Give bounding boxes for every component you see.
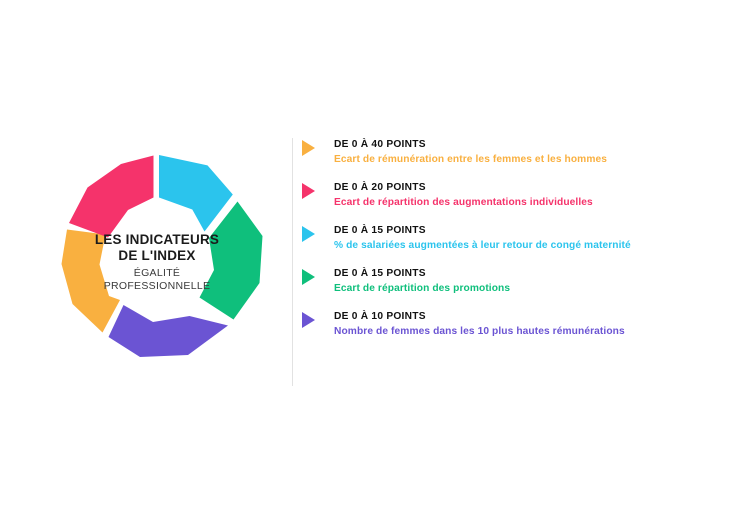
indicator-description: Ecart de répartition des promotions — [334, 281, 720, 297]
list-item: DE 0 À 15 POINTS Ecart de répartition de… — [300, 267, 720, 297]
triangle-right-icon — [302, 312, 315, 328]
indicator-points-label: DE 0 À 10 POINTS — [334, 310, 720, 324]
indicator-list: DE 0 À 40 POINTS Ecart de rémunération e… — [300, 138, 720, 340]
list-item: DE 0 À 15 POINTS % de salariées augmenté… — [300, 224, 720, 254]
purple-segment — [109, 305, 229, 357]
triangle-right-icon — [302, 269, 315, 285]
triangle-right-icon — [302, 140, 315, 156]
indicator-points-label: DE 0 À 15 POINTS — [334, 224, 720, 238]
indicator-points-label: DE 0 À 20 POINTS — [334, 181, 720, 195]
indicator-description: Nombre de femmes dans les 10 plus hautes… — [334, 324, 720, 340]
indicator-points-label: DE 0 À 40 POINTS — [334, 138, 720, 152]
pink-segment — [69, 156, 154, 238]
donut-segments — [62, 155, 263, 357]
indicator-description: Ecart de rémunération entre les femmes e… — [334, 152, 720, 168]
cyan-segment — [159, 155, 233, 232]
triangle-right-icon — [302, 183, 315, 199]
list-item: DE 0 À 20 POINTS Ecart de répartition de… — [300, 181, 720, 211]
amber-segment — [62, 230, 121, 333]
list-item: DE 0 À 10 POINTS Nombre de femmes dans l… — [300, 310, 720, 340]
index-indicators-infographic: LES INDICATEURS DE L'INDEX ÉGALITÉ PROFE… — [0, 0, 750, 525]
indicator-description: % de salariées augmentées à leur retour … — [334, 238, 720, 254]
donut-chart-svg — [47, 152, 267, 372]
vertical-divider — [292, 138, 293, 386]
indicator-points-label: DE 0 À 15 POINTS — [334, 267, 720, 281]
triangle-right-icon — [302, 226, 315, 242]
indicator-description: Ecart de répartition des augmentations i… — [334, 195, 720, 211]
donut-chart: LES INDICATEURS DE L'INDEX ÉGALITÉ PROFE… — [47, 152, 267, 372]
list-item: DE 0 À 40 POINTS Ecart de rémunération e… — [300, 138, 720, 168]
